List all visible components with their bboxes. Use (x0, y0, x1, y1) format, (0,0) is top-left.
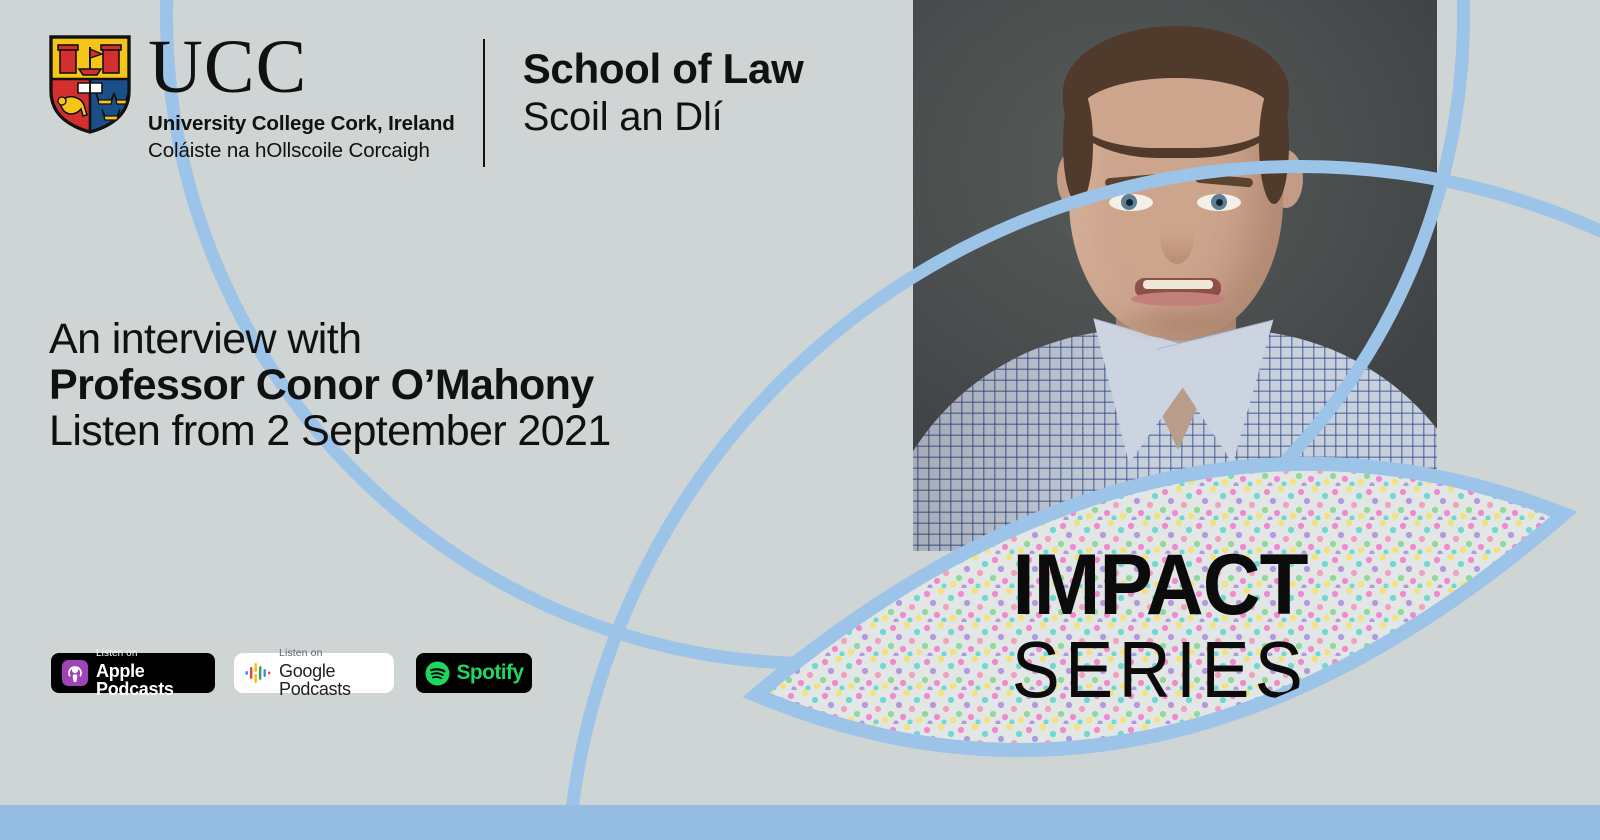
google-podcasts-badge[interactable]: Listen on Google Podcasts (234, 653, 394, 693)
spotify-icon (425, 661, 450, 686)
school-name-en: School of Law (523, 43, 804, 94)
impact-title: IMPACT (1012, 536, 1307, 632)
podcast-badges: Listen on Apple Podcasts Listen on Googl… (51, 653, 532, 693)
promo-banner: IMPACT SERIES (0, 0, 1600, 840)
apple-podcasts-badge[interactable]: Listen on Apple Podcasts (51, 653, 215, 693)
apple-podcasts-icon (62, 660, 88, 686)
spotify-wordmark: Spotify (457, 661, 524, 685)
google-badge-big: Google Podcasts (279, 662, 383, 698)
google-badge-suffix: Podcasts (279, 679, 351, 699)
ucc-coat-of-arms-icon (48, 33, 132, 135)
headline-line-1: An interview with (49, 316, 689, 362)
google-badge-text: Listen on Google Podcasts (279, 648, 383, 698)
ucc-acronym: UCC (148, 33, 455, 103)
google-podcasts-icon (245, 662, 271, 684)
school-name-block: School of Law Scoil an Dlí (523, 33, 804, 141)
apple-badge-big: Apple Podcasts (96, 662, 204, 698)
logo-divider (483, 39, 485, 167)
bottom-accent-bar (0, 805, 1600, 840)
impact-series-badge: IMPACT SERIES (752, 452, 1568, 804)
headline: An interview with Professor Conor O’Maho… (49, 316, 689, 454)
ucc-logo-lockup: UCC University College Cork, Ireland Col… (48, 33, 803, 167)
google-badge-brand: Google (279, 661, 335, 681)
apple-badge-text: Listen on Apple Podcasts (96, 649, 204, 698)
spotify-badge[interactable]: Spotify (416, 653, 532, 693)
headline-line-2: Professor Conor O’Mahony (49, 362, 689, 408)
ucc-text-block: UCC University College Cork, Ireland Col… (148, 33, 455, 163)
apple-badge-small: Listen on (96, 649, 204, 659)
headline-line-3: Listen from 2 September 2021 (49, 408, 689, 454)
series-title: SERIES (1012, 626, 1308, 715)
google-badge-small: Listen on (279, 648, 383, 659)
ucc-name-ga: Coláiste na hOllscoile Corcaigh (148, 139, 455, 163)
ucc-name-en: University College Cork, Ireland (148, 112, 455, 136)
school-name-ga: Scoil an Dlí (523, 94, 804, 141)
